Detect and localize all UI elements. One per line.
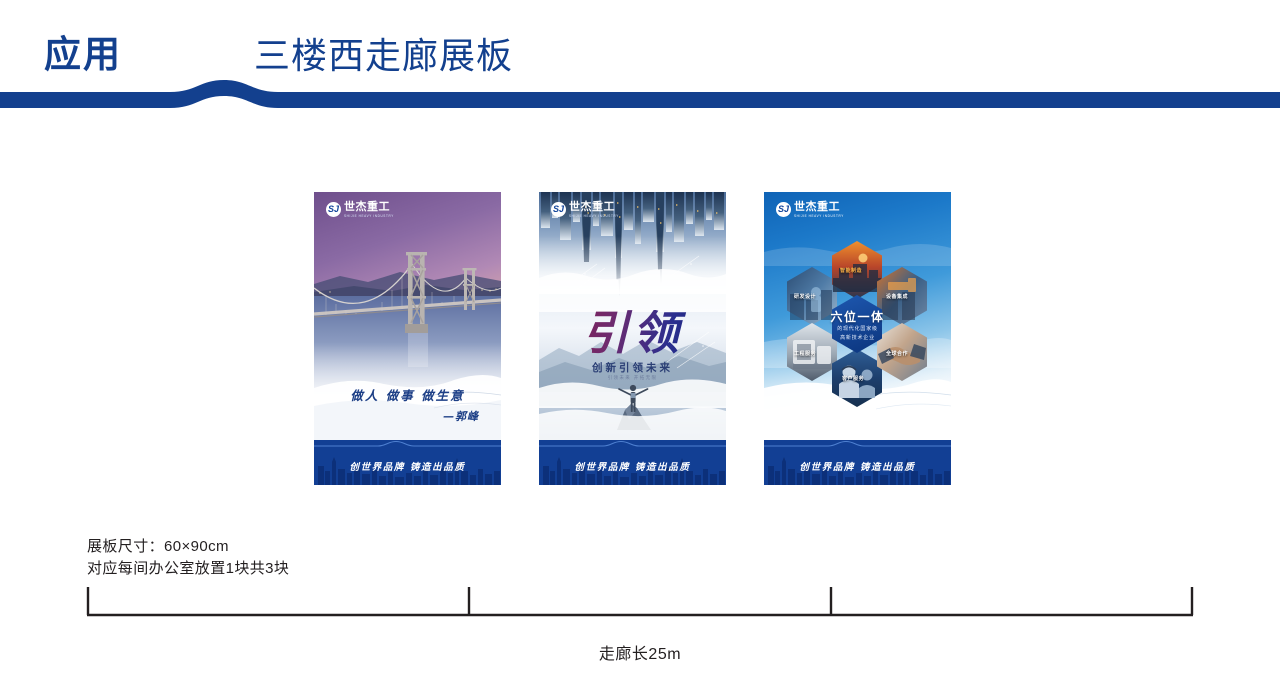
poster-hexagon[interactable]: 六位一体 的现代化国家级 高新技术企业 研发设计 智能制造 设备集成 工程服务 … xyxy=(764,192,951,485)
page-header: 应用 三楼西走廊展板 xyxy=(0,0,1280,110)
logo-mark-icon: SJ xyxy=(326,202,341,217)
logo-name-cn: 世杰重工 xyxy=(794,202,844,213)
poster-bridge[interactable]: SJ 世杰重工 SHIJIE HEAVY INDUSTRY 做人 做事 做生意 … xyxy=(314,192,501,485)
spec-quantity-line: 对应每间办公室放置1块共3块 xyxy=(87,558,289,580)
poster-subtitle-small: 引领未来 开拓无限 xyxy=(539,375,726,381)
poster-row: SJ 世杰重工 SHIJIE HEAVY INDUSTRY 做人 做事 做生意 … xyxy=(0,192,1280,485)
header-kicker: 应用 xyxy=(44,36,122,73)
corridor-total-label: 走廊长25m xyxy=(0,640,1280,664)
logo-name-en: SHIJIE HEAVY INDUSTRY xyxy=(344,215,394,218)
brand-logo: SJ 世杰重工 SHIJIE HEAVY INDUSTRY xyxy=(326,202,394,218)
slide-page: 应用 三楼西走廊展板 xyxy=(0,0,1280,680)
poster-footer-band: 创世界品牌 铸造出品质 xyxy=(539,440,726,485)
poster-lead[interactable]: SJ 世杰重工 SHIJIE HEAVY INDUSTRY 引领 创新引领未来 … xyxy=(539,192,726,485)
poster-footer-band: 创世界品牌 铸造出品质 xyxy=(314,440,501,485)
logo-mark-icon: SJ xyxy=(776,202,791,217)
poster-footer-text: 创世界品牌 铸造出品质 xyxy=(314,459,501,473)
poster-footer-band: 创世界品牌 铸造出品质 xyxy=(764,440,951,485)
poster-headline: 引领 xyxy=(539,310,726,356)
poster-footer-text: 创世界品牌 铸造出品质 xyxy=(764,459,951,473)
poster-footer-text: 创世界品牌 铸造出品质 xyxy=(539,459,726,473)
logo-mark-icon: SJ xyxy=(551,202,566,217)
brand-logo: SJ 世杰重工 SHIJIE HEAVY INDUSTRY xyxy=(776,202,844,218)
logo-name-cn: 世杰重工 xyxy=(344,202,394,213)
logo-name-en: SHIJIE HEAVY INDUSTRY xyxy=(794,215,844,218)
logo-name-en: SHIJIE HEAVY INDUSTRY xyxy=(569,215,619,218)
poster-author: —郭峰 xyxy=(443,408,479,424)
header-wave-divider xyxy=(0,78,1280,110)
hexagon-cluster: 六位一体 的现代化国家级 高新技术企业 研发设计 智能制造 设备集成 工程服务 … xyxy=(764,192,951,440)
spec-size-line: 展板尺寸：60×90cm xyxy=(87,536,289,558)
page-title: 三楼西走廊展板 xyxy=(254,38,513,74)
corridor-ruler: 7m 7m 7m xyxy=(0,585,1280,630)
logo-name-cn: 世杰重工 xyxy=(569,202,619,213)
spec-notes: 展板尺寸：60×90cm 对应每间办公室放置1块共3块 xyxy=(87,536,289,580)
poster-subtitle: 创新引领未来 xyxy=(539,360,726,375)
poster-slogan: 做人 做事 做生意 xyxy=(314,385,501,404)
brand-logo: SJ 世杰重工 SHIJIE HEAVY INDUSTRY xyxy=(551,202,619,218)
